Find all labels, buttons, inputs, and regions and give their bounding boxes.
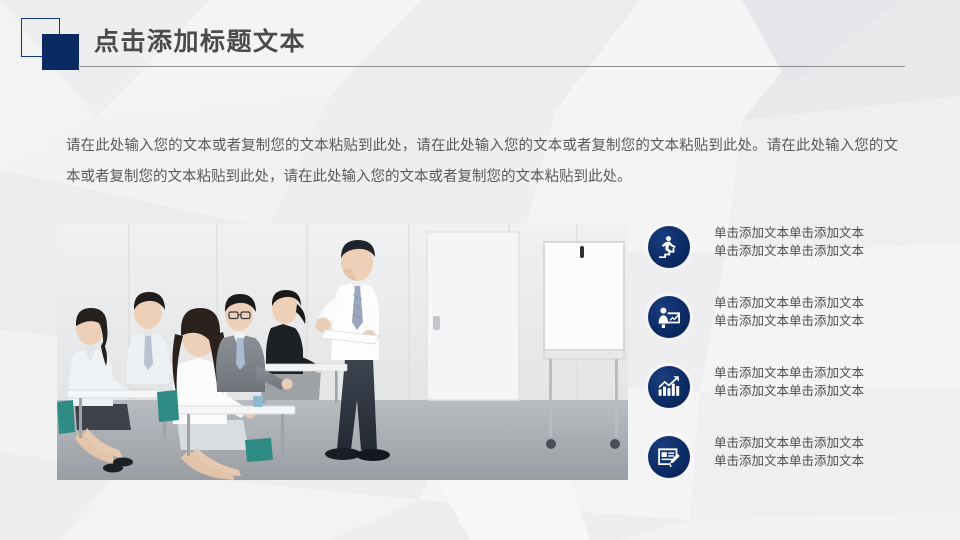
header-square-filled [42,34,79,70]
list-item[interactable]: 单击添加文本单击添加文本 单击添加文本单击添加文本 [648,362,948,432]
list-item-line-1: 单击添加文本单击添加文本 [714,364,948,382]
slide-canvas: 点击添加标题文本 请在此处输入您的文本或者复制您的文本粘贴到此处，请在此处输入您… [0,0,960,540]
seminar-photo-illustration [57,224,628,480]
list-item[interactable]: 单击添加文本单击添加文本 单击添加文本单击添加文本 [648,432,948,502]
list-item[interactable]: 单击添加文本单击添加文本 单击添加文本单击添加文本 [648,292,948,362]
list-item-line-2: 单击添加文本单击添加文本 [714,382,948,400]
list-item-line-1: 单击添加文本单击添加文本 [714,294,948,312]
list-item-text: 单击添加文本单击添加文本 单击添加文本单击添加文本 [714,434,948,470]
page-title: 点击添加标题文本 [94,22,306,58]
list-item-line-2: 单击添加文本单击添加文本 [714,242,948,260]
web-form-edit-icon [648,436,690,478]
list-item-text: 单击添加文本单击添加文本 单击添加文本单击添加文本 [714,294,948,330]
seminar-photo [57,224,628,480]
growth-chart-icon [648,366,690,408]
list-item-text: 单击添加文本单击添加文本 单击添加文本单击添加文本 [714,364,948,400]
list-item-line-1: 单击添加文本单击添加文本 [714,434,948,452]
presenter-board-icon [648,296,690,338]
list-item-line-1: 单击添加文本单击添加文本 [714,224,948,242]
body-paragraph: 请在此处输入您的文本或者复制您的文本粘贴到此处，请在此处输入您的文本或者复制您的… [66,131,898,193]
list-item-text: 单击添加文本单击添加文本 单击添加文本单击添加文本 [714,224,948,260]
list-item-line-2: 单击添加文本单击添加文本 [714,452,948,470]
header-divider [78,66,905,67]
list-item-line-2: 单击添加文本单击添加文本 [714,312,948,330]
feature-list: 单击添加文本单击添加文本 单击添加文本单击添加文本 单 [648,222,948,502]
stairs-climb-icon [648,226,690,268]
list-item[interactable]: 单击添加文本单击添加文本 单击添加文本单击添加文本 [648,222,948,292]
